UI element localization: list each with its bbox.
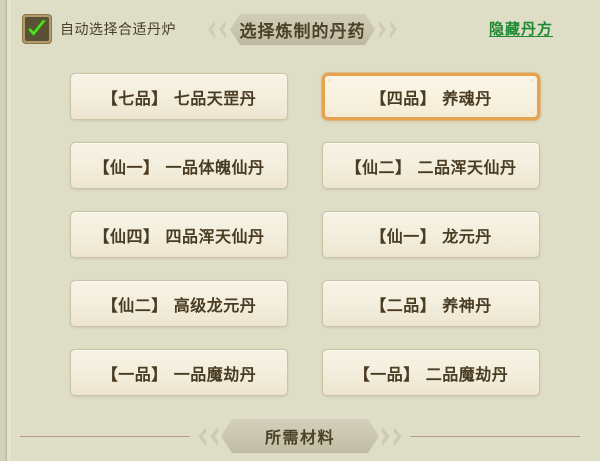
title-banner: 选择炼制的丹药 [205,14,400,45]
pill-item-label: 【四品】 养魂丹 [370,85,492,109]
pill-item-button[interactable]: 【仙四】 四品浑天仙丹 [70,211,288,258]
hide-recipe-link[interactable]: 隐藏丹方 [489,18,553,39]
pill-item-label: 【仙二】 高级龙元丹 [102,292,257,316]
page-title: 选择炼制的丹药 [205,14,400,45]
pill-item-label: 【仙一】 一品体魄仙丹 [93,154,264,178]
corner-dot [328,79,331,82]
pill-item-button[interactable]: 【仙一】 一品体魄仙丹 [70,142,288,189]
pill-item-button[interactable]: 【一品】 一品魔劫丹 [70,349,288,396]
pill-item-label: 【仙四】 四品浑天仙丹 [93,223,264,247]
header-bar: 自动选择合适丹炉 [0,0,600,58]
pill-item-label: 【二品】 养神丹 [370,292,492,316]
pill-row: 【七品】 七品天罡丹 【四品】 养魂丹 [0,67,600,136]
pill-item-label: 【一品】 二品魔劫丹 [354,361,509,385]
pill-item-button[interactable]: 【一品】 二品魔劫丹 [322,349,540,396]
auto-select-furnace-label: 自动选择合适丹炉 [60,19,176,39]
auto-select-furnace-checkbox[interactable]: 自动选择合适丹炉 [22,14,176,44]
pill-row: 【仙一】 一品体魄仙丹 【仙二】 二品浑天仙丹 [0,136,600,205]
pill-item-label: 【仙二】 二品浑天仙丹 [345,154,516,178]
corner-dot [531,111,534,114]
pill-item-label: 【仙一】 龙元丹 [370,223,492,247]
pill-list-grid: 【七品】 七品天罡丹 【四品】 养魂丹 【仙一】 一品体魄仙丹 【仙二】 二品浑… [0,67,600,407]
pill-item-label: 【七品】 七品天罡丹 [102,85,257,109]
pill-item-button[interactable]: 【二品】 养神丹 [322,280,540,327]
divider-line-left [20,436,190,437]
footer-section-header: 所需材料 [0,413,600,461]
pill-row: 【仙二】 高级龙元丹 【二品】 养神丹 [0,274,600,343]
pill-item-button[interactable]: 【仙二】 高级龙元丹 [70,280,288,327]
pill-item-button[interactable]: 【七品】 七品天罡丹 [70,73,288,120]
pill-item-button[interactable]: 【仙二】 二品浑天仙丹 [322,142,540,189]
divider-line-right [410,436,580,437]
footer-banner: 所需材料 [195,419,405,453]
pill-item-button-selected[interactable]: 【四品】 养魂丹 [322,73,540,120]
corner-dot [531,79,534,82]
pill-row: 【一品】 一品魔劫丹 【一品】 二品魔劫丹 [0,343,600,412]
pill-row: 【仙四】 四品浑天仙丹 【仙一】 龙元丹 [0,205,600,274]
checkbox-box[interactable] [22,14,52,44]
checkmark-icon [25,17,49,41]
pill-selection-screen: 自动选择合适丹炉 [0,0,600,461]
corner-dot [328,111,331,114]
footer-title: 所需材料 [195,419,405,453]
pill-item-button[interactable]: 【仙一】 龙元丹 [322,211,540,258]
pill-item-label: 【一品】 一品魔劫丹 [102,361,257,385]
